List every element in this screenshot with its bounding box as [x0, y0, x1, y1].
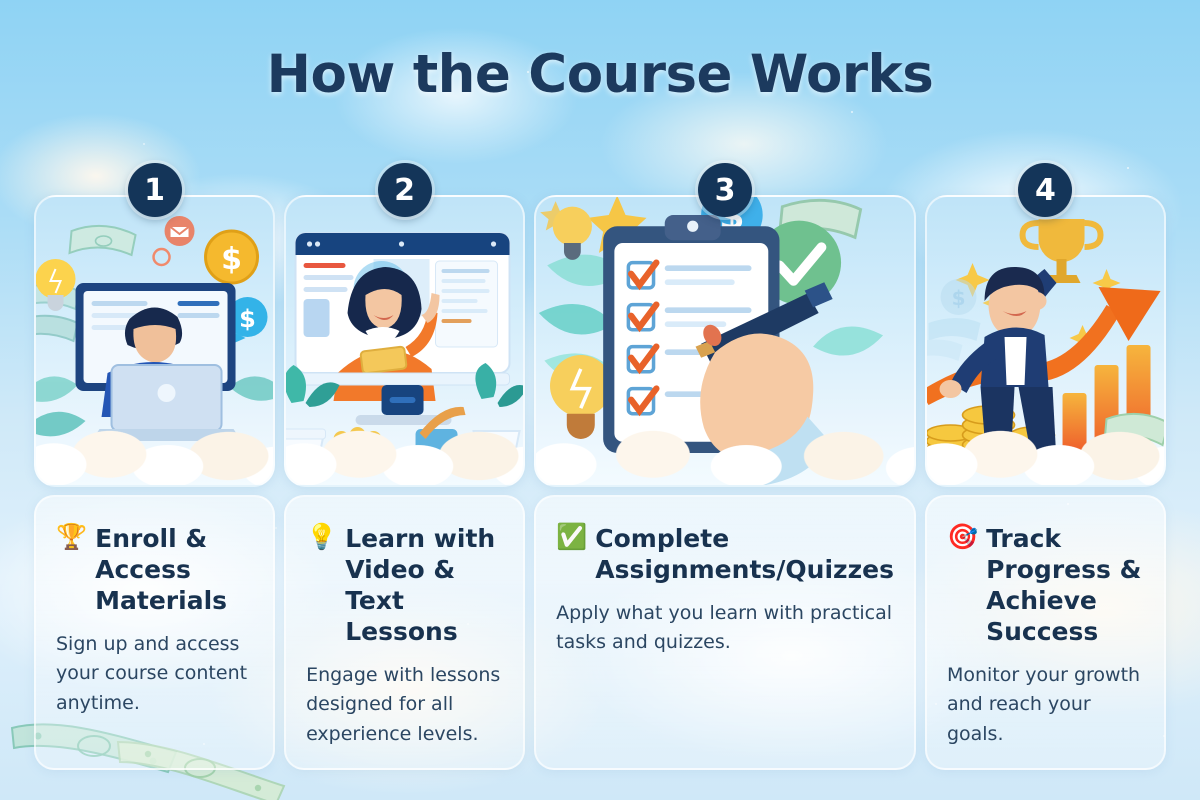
- svg-text:$: $: [239, 305, 256, 333]
- lightbulb-emoji: 💡: [306, 523, 337, 552]
- step-title-2: Learn with Video & Text Lessons: [345, 523, 503, 647]
- step-title-row-1: 🏆 Enroll & Access Materials: [56, 523, 253, 616]
- cloud-ground-decor: [925, 413, 1166, 487]
- step-illustration-2: [284, 195, 525, 487]
- step-illustration-3: $: [534, 195, 916, 487]
- cloud-ground-decor: [34, 413, 275, 487]
- step-text-card-2: 💡 Learn with Video & Text Lessons Engage…: [284, 495, 525, 770]
- step-title-row-3: ✅ Complete Assignments/Quizzes: [556, 523, 894, 585]
- trophy-emoji: 🏆: [56, 523, 87, 552]
- cloud-ground-decor: [284, 413, 525, 487]
- svg-text:$: $: [952, 286, 966, 310]
- page-title: How the Course Works: [0, 44, 1200, 105]
- step-title-row-2: 💡 Learn with Video & Text Lessons: [306, 523, 503, 647]
- steps-row: 1: [34, 195, 1166, 770]
- step-body-4: Monitor your growth and reach your goals…: [947, 661, 1144, 749]
- step-badge-2: 2: [378, 163, 432, 217]
- step-title-3: Complete Assignments/Quizzes: [595, 523, 894, 585]
- step-text-card-3: ✅ Complete Assignments/Quizzes Apply wha…: [534, 495, 916, 770]
- dollar-coin-icon: $: [206, 231, 258, 283]
- step-column-3: 3: [534, 195, 916, 770]
- step-column-4: 4 $: [925, 195, 1166, 770]
- step-title-row-4: 🎯 Track Progress & Achieve Success: [947, 523, 1144, 647]
- step-column-1: 1: [34, 195, 275, 770]
- ring-decor: [154, 249, 170, 265]
- step-illustration-1: $ $: [34, 195, 275, 487]
- step-badge-3: 3: [698, 163, 752, 217]
- check-mark-button-emoji: ✅: [556, 523, 587, 552]
- step-title-1: Enroll & Access Materials: [95, 523, 253, 616]
- envelope-icon: [165, 216, 195, 246]
- step-body-3: Apply what you learn with practical task…: [556, 599, 894, 658]
- step-body-1: Sign up and access your course content a…: [56, 630, 253, 718]
- infographic-canvas: How the Course Works 1: [0, 0, 1200, 800]
- step-badge-4: 4: [1018, 163, 1072, 217]
- cloud-ground-decor: [534, 413, 916, 487]
- svg-text:$: $: [221, 242, 242, 277]
- step-column-2: 2: [284, 195, 525, 770]
- step-text-card-1: 🏆 Enroll & Access Materials Sign up and …: [34, 495, 275, 770]
- step-body-2: Engage with lessons designed for all exp…: [306, 661, 503, 749]
- step-text-card-4: 🎯 Track Progress & Achieve Success Monit…: [925, 495, 1166, 770]
- step-title-4: Track Progress & Achieve Success: [986, 523, 1144, 647]
- step-badge-1: 1: [128, 163, 182, 217]
- step-illustration-4: $: [925, 195, 1166, 487]
- direct-hit-target-emoji: 🎯: [947, 523, 978, 552]
- money-decor: $: [927, 279, 981, 361]
